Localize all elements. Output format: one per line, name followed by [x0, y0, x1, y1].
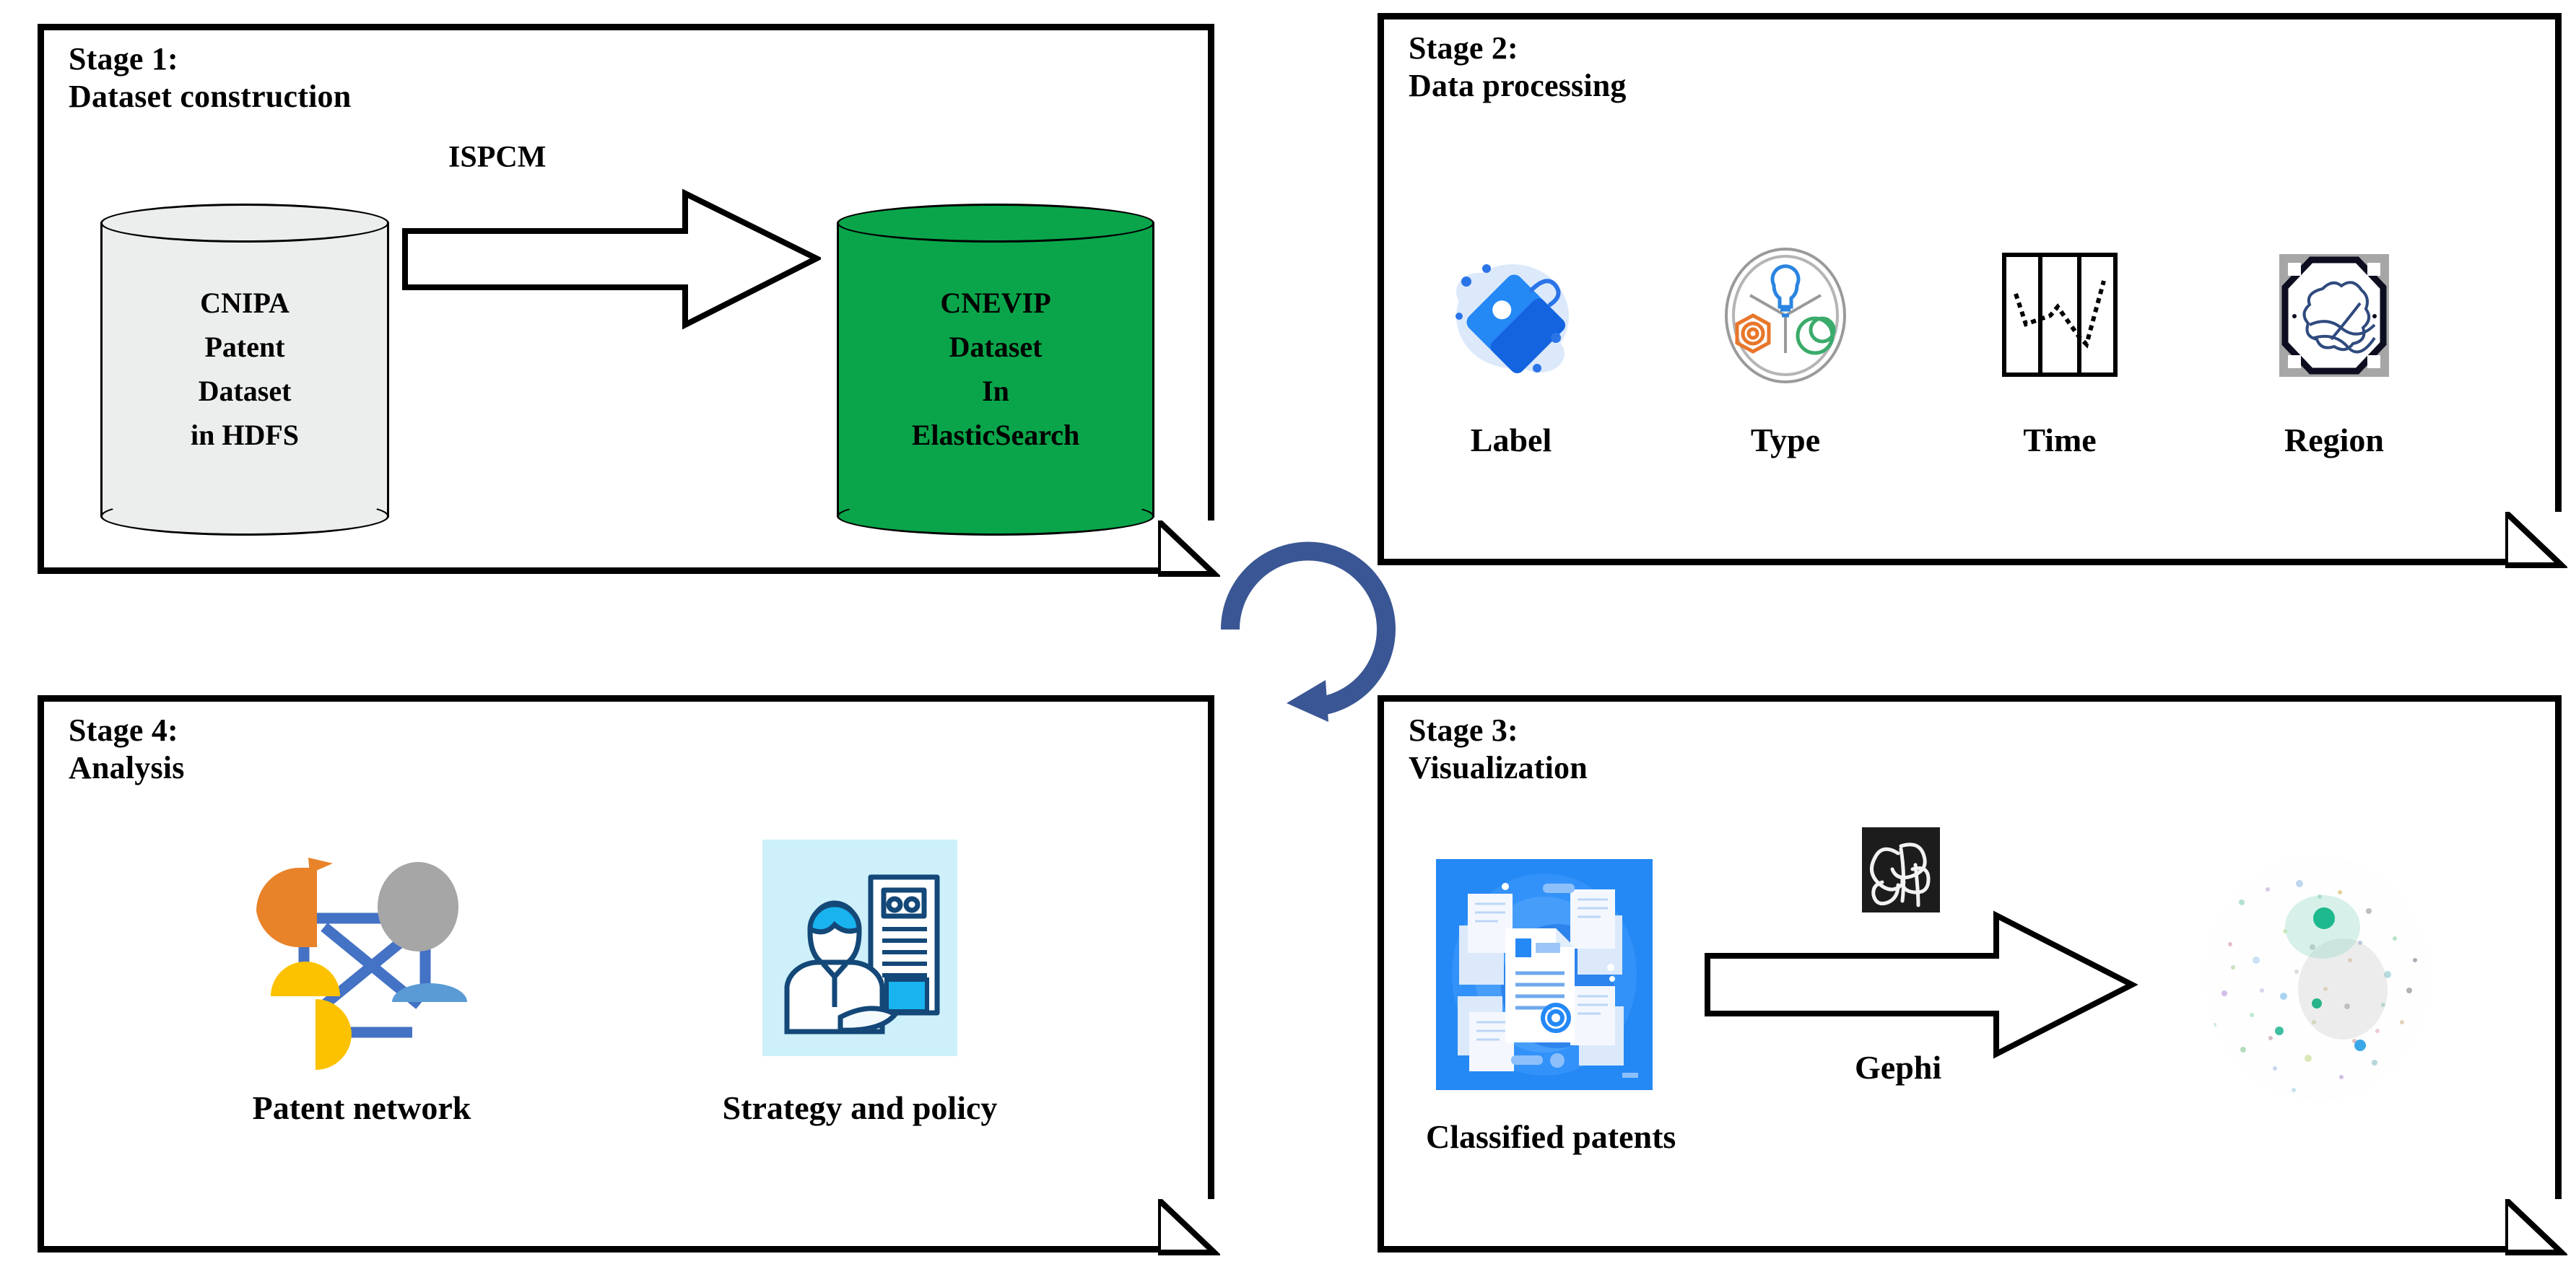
- gephi-block-arrow-icon: [1705, 905, 2138, 1068]
- analysis-item-strategy-policy: Strategy and policy: [694, 826, 1026, 1127]
- stage-1-title-line1: Stage 1:: [69, 41, 178, 77]
- source-db-line-1: CNIPA: [200, 282, 290, 326]
- stage-4-panel: Stage 4: Analysis Pa: [38, 695, 1214, 1253]
- target-db-line-3: In: [982, 370, 1009, 414]
- network-graph-cloud-icon: [2198, 852, 2437, 1108]
- category-circles-icon: [1677, 236, 1894, 395]
- gephi-logo: [1862, 827, 1940, 916]
- feature-label: Label: [1403, 236, 1619, 459]
- region-map-octagon-icon: [2226, 236, 2442, 395]
- feature-type: Type: [1677, 236, 1894, 459]
- classified-documents-icon: [1436, 859, 1653, 1094]
- source-database-cylinder-icon: CNIPA Patent Dataset in HDFS: [100, 204, 389, 536]
- ispcm-arrow-label: ISPCM: [448, 140, 546, 175]
- stage-4-title: Stage 4: Analysis: [69, 712, 185, 787]
- patent-network-caption: Patent network: [210, 1089, 513, 1127]
- feature-time-caption: Time: [1951, 421, 2168, 459]
- stage-3-title: Stage 3: Visualization: [1409, 712, 1588, 787]
- feature-type-caption: Type: [1677, 421, 1894, 459]
- feature-region-caption: Region: [2226, 421, 2442, 459]
- classified-patents-caption: Classified patents: [1426, 1118, 1676, 1156]
- price-tag-icon: [1403, 236, 1619, 395]
- target-db-line-1: CNEVIP: [940, 282, 1050, 326]
- timeline-chart-icon: [1951, 236, 2168, 395]
- feature-region: Region: [2226, 236, 2442, 459]
- stage-3-title-line2: Visualization: [1409, 749, 1588, 787]
- strategy-policy-caption: Strategy and policy: [694, 1089, 1026, 1127]
- stage-2-title-line1: Stage 2:: [1409, 30, 1518, 66]
- page-fold-corner-icon: [1158, 520, 1214, 574]
- target-db-line-2: Dataset: [949, 326, 1043, 370]
- page-fold-corner-icon: [2505, 1199, 2562, 1253]
- page-fold-corner-icon: [1158, 1199, 1214, 1253]
- feature-label-caption: Label: [1403, 421, 1619, 459]
- source-db-line-2: Patent: [204, 326, 284, 370]
- stage-4-title-line2: Analysis: [69, 749, 185, 787]
- analysis-item-patent-network: Patent network: [210, 832, 513, 1127]
- feature-time: Time: [1951, 236, 2168, 459]
- target-db-line-4: ElasticSearch: [912, 414, 1080, 458]
- stage-4-title-line1: Stage 4:: [69, 713, 178, 748]
- stage-1-panel: Stage 1: Dataset construction CNIPA Pate…: [38, 24, 1214, 574]
- target-database-label: CNEVIP Dataset In ElasticSearch: [837, 204, 1154, 536]
- page-fold-corner-icon: [2505, 512, 2562, 565]
- cycle-arrow-icon: [1220, 541, 1401, 722]
- ispcm-block-arrow-icon: [402, 183, 821, 335]
- source-db-line-4: in HDFS: [191, 414, 299, 458]
- stage-2-title: Stage 2: Data processing: [1409, 30, 1627, 105]
- stage-3-title-line1: Stage 3:: [1409, 713, 1518, 748]
- stage-1-title-line2: Dataset construction: [69, 78, 351, 116]
- stage-2-title-line2: Data processing: [1409, 67, 1627, 105]
- stage-1-title: Stage 1: Dataset construction: [69, 40, 351, 116]
- source-db-line-3: Dataset: [199, 370, 292, 414]
- stage-2-panel: Stage 2: Data processing: [1378, 13, 2562, 565]
- source-database-label: CNIPA Patent Dataset in HDFS: [100, 204, 389, 536]
- network-nodes-icon: [210, 832, 513, 1070]
- stage-3-panel: Stage 3: Visualization: [1378, 695, 2562, 1253]
- analyst-document-icon: [694, 826, 1026, 1070]
- target-database-cylinder-icon: CNEVIP Dataset In ElasticSearch: [837, 204, 1154, 536]
